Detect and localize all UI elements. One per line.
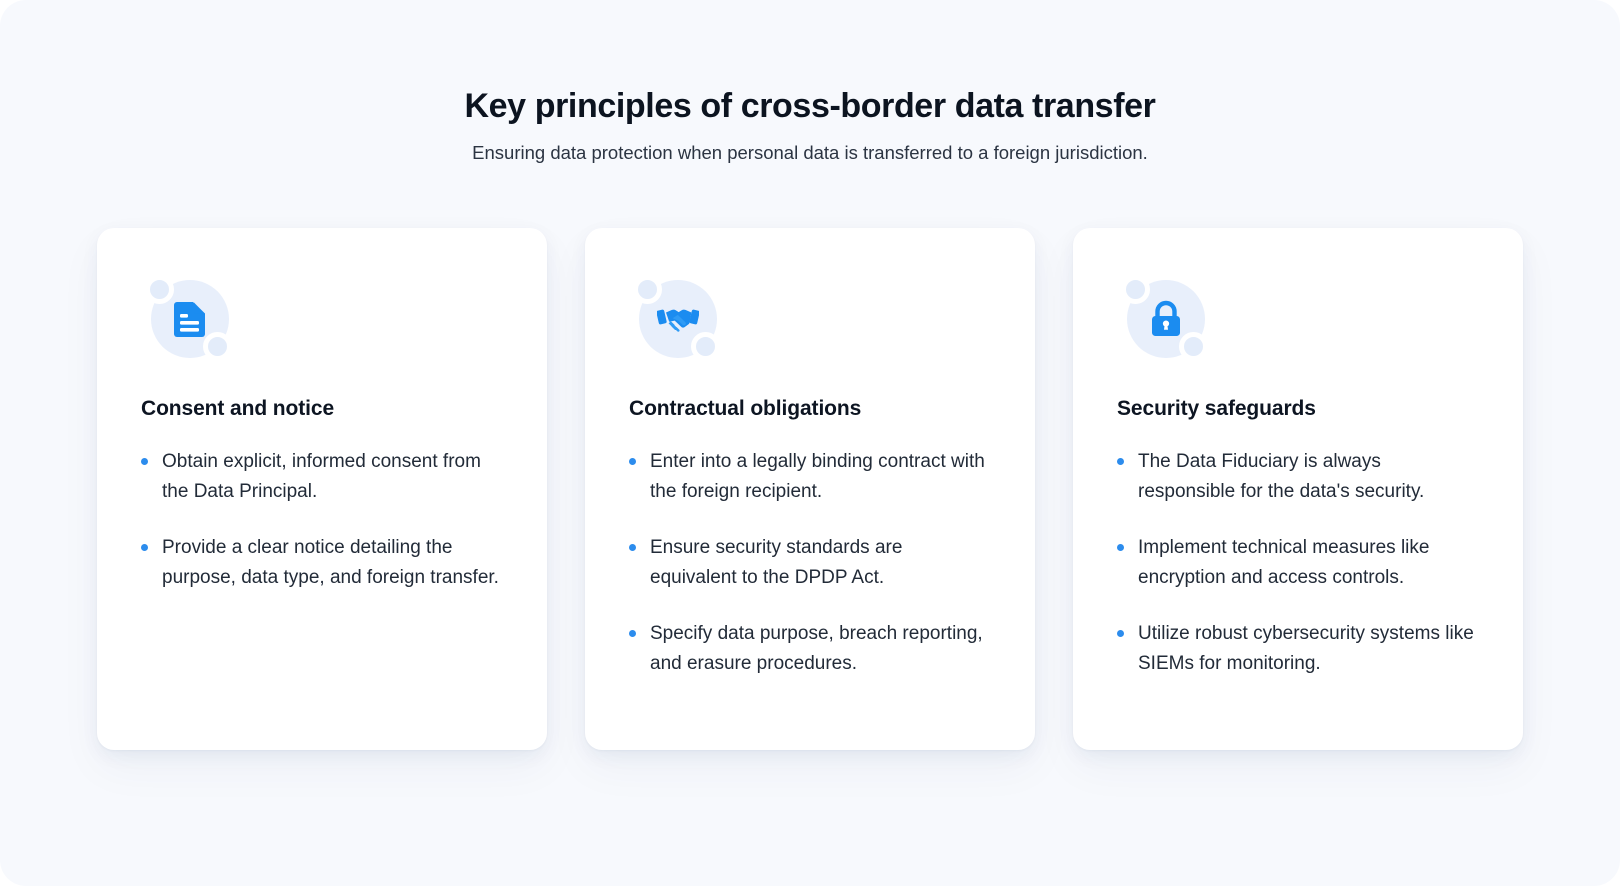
handshake-icon: [655, 296, 701, 342]
list-item: Enter into a legally binding contract wi…: [629, 447, 991, 507]
list-item: Obtain explicit, informed consent from t…: [141, 447, 503, 507]
bullet-list: Obtain explicit, informed consent from t…: [141, 447, 503, 593]
bullet-list: The Data Fiduciary is always responsible…: [1117, 447, 1479, 679]
list-item: The Data Fiduciary is always responsible…: [1117, 447, 1479, 507]
bullet-dot-icon: [1117, 458, 1124, 465]
document-icon: [167, 296, 213, 342]
infographic-page: Key principles of cross-border data tran…: [0, 0, 1620, 886]
list-item: Utilize robust cybersecurity systems lik…: [1117, 619, 1479, 679]
icon-badge: [141, 274, 233, 366]
bullet-list: Enter into a legally binding contract wi…: [629, 447, 991, 679]
list-item: Implement technical measures like encryp…: [1117, 533, 1479, 593]
list-item-text: Ensure security standards are equivalent…: [650, 537, 902, 588]
bullet-dot-icon: [629, 458, 636, 465]
bullet-dot-icon: [141, 544, 148, 551]
bullet-dot-icon: [629, 630, 636, 637]
card-security-safeguards: Security safeguards The Data Fiduciary i…: [1073, 228, 1523, 750]
page-subtitle: Ensuring data protection when personal d…: [0, 141, 1620, 166]
bullet-dot-icon: [1117, 544, 1124, 551]
list-item: Ensure security standards are equivalent…: [629, 533, 991, 593]
list-item: Specify data purpose, breach reporting, …: [629, 619, 991, 679]
bullet-dot-icon: [141, 458, 148, 465]
card-title: Security safeguards: [1117, 397, 1479, 421]
list-item-text: Utilize robust cybersecurity systems lik…: [1138, 623, 1474, 674]
list-item-text: Provide a clear notice detailing the pur…: [162, 537, 499, 588]
lock-icon: [1143, 296, 1189, 342]
card-title: Contractual obligations: [629, 397, 991, 421]
list-item-text: The Data Fiduciary is always responsible…: [1138, 451, 1424, 502]
bullet-dot-icon: [1117, 630, 1124, 637]
card-contractual-obligations: Contractual obligations Enter into a leg…: [585, 228, 1035, 750]
card-title: Consent and notice: [141, 397, 503, 421]
header: Key principles of cross-border data tran…: [0, 0, 1620, 166]
list-item-text: Implement technical measures like encryp…: [1138, 537, 1429, 588]
page-title: Key principles of cross-border data tran…: [0, 86, 1620, 126]
list-item-text: Enter into a legally binding contract wi…: [650, 451, 985, 502]
list-item-text: Obtain explicit, informed consent from t…: [162, 451, 481, 502]
icon-badge: [1117, 274, 1209, 366]
list-item: Provide a clear notice detailing the pur…: [141, 533, 503, 593]
card-consent-and-notice: Consent and notice Obtain explicit, info…: [97, 228, 547, 750]
icon-badge: [629, 274, 721, 366]
list-item-text: Specify data purpose, breach reporting, …: [650, 623, 983, 674]
bullet-dot-icon: [629, 544, 636, 551]
card-grid: Consent and notice Obtain explicit, info…: [0, 228, 1620, 750]
